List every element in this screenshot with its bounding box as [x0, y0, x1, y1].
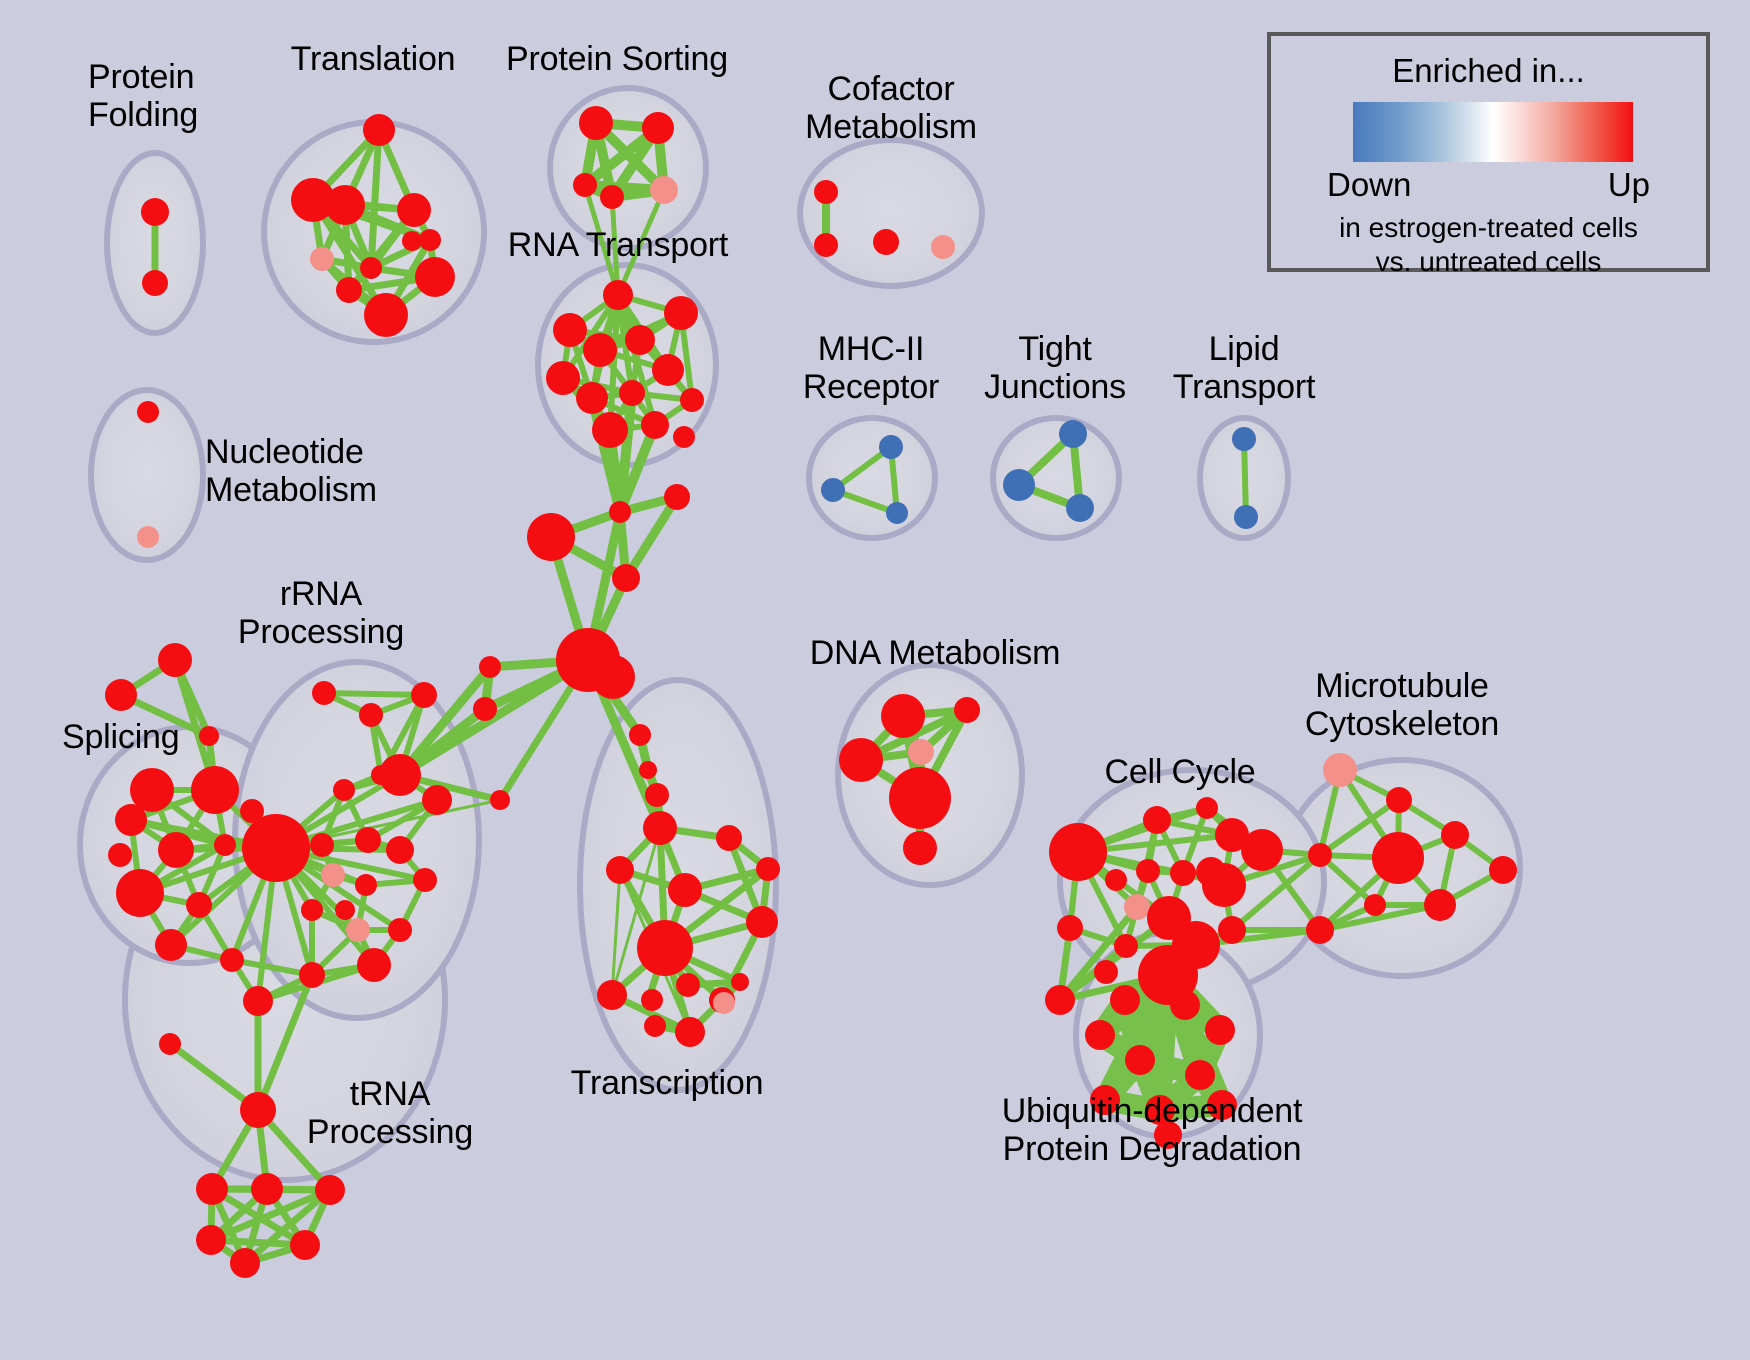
node	[346, 918, 370, 942]
node	[402, 231, 422, 251]
node	[606, 856, 634, 884]
node	[355, 827, 381, 853]
node	[1045, 985, 1075, 1015]
node	[821, 478, 845, 502]
node	[643, 811, 677, 845]
node	[600, 185, 624, 209]
node	[1306, 916, 1334, 944]
cluster-label-trna-processing: tRNA Processing	[307, 1075, 473, 1151]
node	[1094, 960, 1118, 984]
cluster-label-lipid-transport: Lipid Transport	[1173, 330, 1315, 406]
node	[422, 785, 452, 815]
node	[573, 173, 597, 197]
node	[814, 233, 838, 257]
node	[397, 193, 431, 227]
node	[355, 874, 377, 896]
node	[583, 333, 617, 367]
node	[650, 176, 678, 204]
node	[196, 1173, 228, 1205]
node	[675, 1017, 705, 1047]
node	[105, 679, 137, 711]
node	[746, 906, 778, 938]
node	[814, 180, 838, 204]
node	[553, 313, 587, 347]
node	[490, 790, 510, 810]
node	[673, 426, 695, 448]
node	[1218, 916, 1246, 944]
node	[664, 296, 698, 330]
node	[908, 739, 934, 765]
node	[1066, 494, 1094, 522]
node	[359, 703, 383, 727]
node	[1136, 859, 1160, 883]
cluster-label-splicing: Splicing	[62, 718, 179, 756]
node	[196, 1225, 226, 1255]
node	[186, 892, 212, 918]
legend-up-label: Up	[1608, 166, 1650, 204]
cluster-label-cell-cycle: Cell Cycle	[1104, 753, 1255, 791]
node	[576, 382, 608, 414]
node	[315, 1175, 345, 1205]
node	[155, 929, 187, 961]
node	[931, 235, 955, 259]
node	[415, 257, 455, 297]
node	[1232, 427, 1256, 451]
node	[1124, 894, 1150, 920]
node	[158, 832, 194, 868]
node	[299, 962, 325, 988]
node	[388, 918, 412, 942]
node	[419, 229, 441, 251]
node	[642, 112, 674, 144]
node	[639, 761, 657, 779]
node	[240, 1092, 276, 1128]
node	[879, 435, 903, 459]
node	[335, 900, 355, 920]
node	[652, 354, 684, 386]
node	[1323, 753, 1357, 787]
node	[645, 783, 669, 807]
node	[290, 1230, 320, 1260]
cluster-label-dna-metabolism: DNA Metabolism	[810, 634, 1060, 672]
node	[336, 277, 362, 303]
node	[731, 973, 749, 991]
node	[664, 484, 690, 510]
node	[379, 754, 421, 796]
node	[115, 804, 147, 836]
legend-colorbar	[1353, 102, 1633, 162]
cluster-label-ubiquitin-degradation: Ubiquitin-dependent Protein Degradation	[1002, 1092, 1303, 1168]
node	[363, 114, 395, 146]
node	[1241, 829, 1283, 871]
node	[1125, 1045, 1155, 1075]
node	[1424, 889, 1456, 921]
cluster-label-transcription: Transcription	[571, 1064, 764, 1102]
node	[603, 280, 633, 310]
node	[137, 401, 159, 423]
node	[1105, 869, 1127, 891]
node	[312, 681, 336, 705]
node	[325, 185, 365, 225]
node	[527, 513, 575, 561]
node	[220, 948, 244, 972]
node	[1170, 990, 1200, 1020]
legend-subtitle-line1: in estrogen-treated cells	[1271, 212, 1706, 244]
node	[310, 247, 334, 271]
node	[579, 106, 613, 140]
node	[199, 726, 219, 746]
node	[641, 411, 669, 439]
node	[546, 361, 580, 395]
node	[413, 868, 437, 892]
legend-title: Enriched in...	[1271, 52, 1706, 90]
node	[1441, 821, 1469, 849]
node	[357, 948, 391, 982]
node	[137, 526, 159, 548]
node	[142, 270, 168, 296]
cluster-label-rna-transport: RNA Transport	[508, 226, 728, 264]
node	[479, 656, 501, 678]
node	[1202, 863, 1246, 907]
node	[1057, 915, 1083, 941]
node	[591, 655, 635, 699]
node	[333, 779, 355, 801]
node	[1049, 823, 1107, 881]
node	[1110, 985, 1140, 1015]
node	[1372, 832, 1424, 884]
node	[1085, 1020, 1115, 1050]
node	[108, 843, 132, 867]
node	[141, 198, 169, 226]
node	[597, 980, 627, 1010]
cluster-label-protein-sorting: Protein Sorting	[506, 40, 728, 78]
node	[612, 564, 640, 592]
cluster-label-rrna-processing: rRNA Processing	[238, 575, 404, 651]
node	[1234, 505, 1258, 529]
cluster-label-microtubule-cytoskeleton: Microtubule Cytoskeleton	[1305, 667, 1499, 743]
node	[1143, 806, 1171, 834]
node	[713, 992, 735, 1014]
node	[242, 814, 310, 882]
node	[756, 857, 780, 881]
cluster-label-protein-folding: Protein Folding	[88, 58, 198, 134]
node	[310, 833, 334, 857]
node	[1386, 787, 1412, 813]
node	[364, 293, 408, 337]
legend-down-label: Down	[1327, 166, 1411, 204]
node	[411, 682, 437, 708]
cluster-label-translation: Translation	[291, 40, 456, 78]
hull-mhc-ii-receptor	[809, 418, 935, 538]
node	[230, 1248, 260, 1278]
legend-subtitle-line2: vs. untreated cells	[1271, 246, 1706, 278]
node	[116, 869, 164, 917]
cluster-label-cofactor-metabolism: Cofactor Metabolism	[805, 70, 977, 146]
node	[889, 767, 951, 829]
node	[386, 836, 414, 864]
node	[360, 257, 382, 279]
node	[609, 501, 631, 523]
node	[641, 989, 663, 1011]
node	[644, 1015, 666, 1037]
node	[1170, 860, 1196, 886]
node	[191, 766, 239, 814]
node	[214, 834, 236, 856]
node	[1114, 934, 1138, 958]
cluster-label-tight-junctions: Tight Junctions	[984, 330, 1126, 406]
node	[873, 229, 899, 255]
node	[1003, 469, 1035, 501]
node	[839, 738, 883, 782]
node	[592, 412, 628, 448]
edge	[324, 693, 424, 695]
node	[301, 899, 323, 921]
node	[637, 920, 693, 976]
node	[886, 502, 908, 524]
node	[243, 986, 273, 1016]
node	[903, 831, 937, 865]
node	[1059, 420, 1087, 448]
node	[680, 388, 704, 412]
node	[1308, 843, 1332, 867]
node	[251, 1173, 283, 1205]
cluster-label-mhc-ii-receptor: MHC-II Receptor	[803, 330, 939, 406]
node	[716, 825, 742, 851]
node	[473, 697, 497, 721]
cluster-label-nucleotide-metabolism: Nucleotide Metabolism	[205, 433, 377, 509]
node	[668, 873, 702, 907]
node	[881, 694, 925, 738]
node	[954, 697, 980, 723]
legend-box: Enriched in... Down Up in estrogen-treat…	[1267, 32, 1710, 272]
node	[159, 1033, 181, 1055]
node	[1185, 1060, 1215, 1090]
node	[158, 643, 192, 677]
node	[1489, 856, 1517, 884]
node	[1196, 797, 1218, 819]
node	[676, 973, 700, 997]
enrichment-map-figure: Protein Folding Translation Protein Sort…	[0, 0, 1750, 1360]
node	[619, 380, 645, 406]
node	[1205, 1015, 1235, 1045]
node	[321, 863, 345, 887]
node	[1364, 894, 1386, 916]
node	[625, 325, 655, 355]
node	[629, 724, 651, 746]
